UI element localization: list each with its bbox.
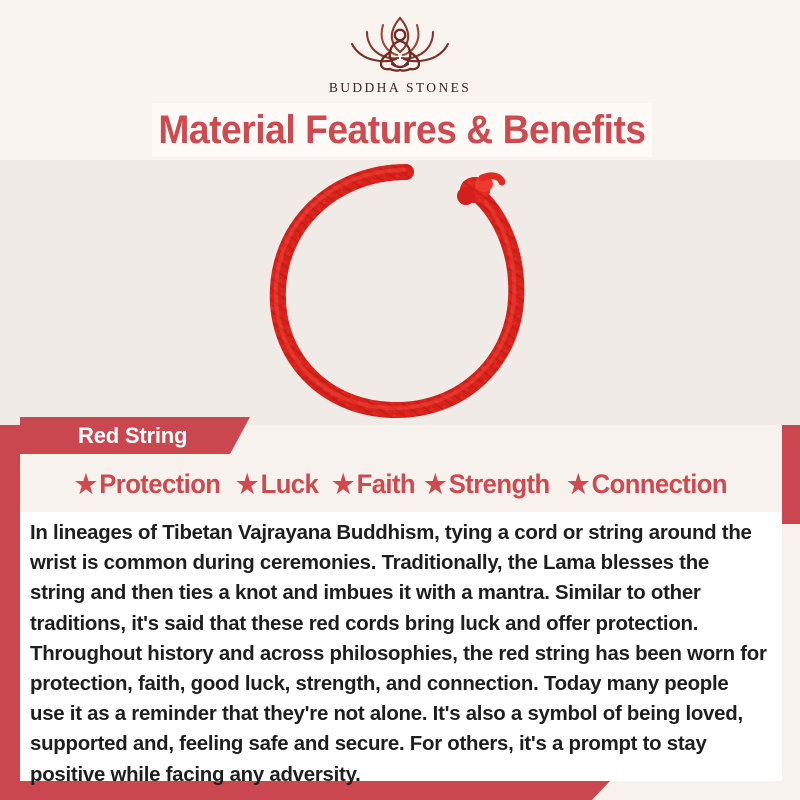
benefit-label: Faith xyxy=(357,469,415,500)
star-icon: ★ xyxy=(74,471,96,497)
benefit-label: Connection xyxy=(592,469,727,500)
benefit-item-protection: ★ Protection xyxy=(74,469,220,500)
description-text: In lineages of Tibetan Vajrayana Buddhis… xyxy=(30,518,768,790)
page-title: Material Features & Benefits xyxy=(158,108,645,153)
benefit-item-faith: ★ Faith xyxy=(332,469,415,500)
product-photo xyxy=(0,160,800,425)
material-label: Red String xyxy=(20,423,187,449)
benefit-label: Protection xyxy=(99,469,220,500)
red-string-bracelet-image xyxy=(220,160,580,425)
brand-logo: BUDDHA STONES xyxy=(0,12,800,96)
star-icon: ★ xyxy=(332,471,354,497)
star-icon: ★ xyxy=(425,471,447,497)
brand-name: BUDDHA STONES xyxy=(329,80,471,96)
benefit-item-strength: ★ Strength xyxy=(425,469,550,500)
benefits-list: ★ Protection ★ Luck ★ Faith ★ Strength ★… xyxy=(20,456,782,512)
description-panel: In lineages of Tibetan Vajrayana Buddhis… xyxy=(20,512,782,781)
benefit-item-luck: ★ Luck xyxy=(236,469,318,500)
lotus-meditation-logo-icon xyxy=(334,12,466,78)
infographic-page: BUDDHA STONES Material Features & Benefi… xyxy=(0,0,800,800)
star-icon: ★ xyxy=(567,471,589,497)
title-banner: Material Features & Benefits xyxy=(152,103,652,157)
benefit-item-connection: ★ Connection xyxy=(567,469,727,500)
material-ribbon: Red String xyxy=(20,417,250,454)
benefit-label: Strength xyxy=(449,469,550,500)
star-icon: ★ xyxy=(236,471,258,497)
benefit-label: Luck xyxy=(260,469,318,500)
